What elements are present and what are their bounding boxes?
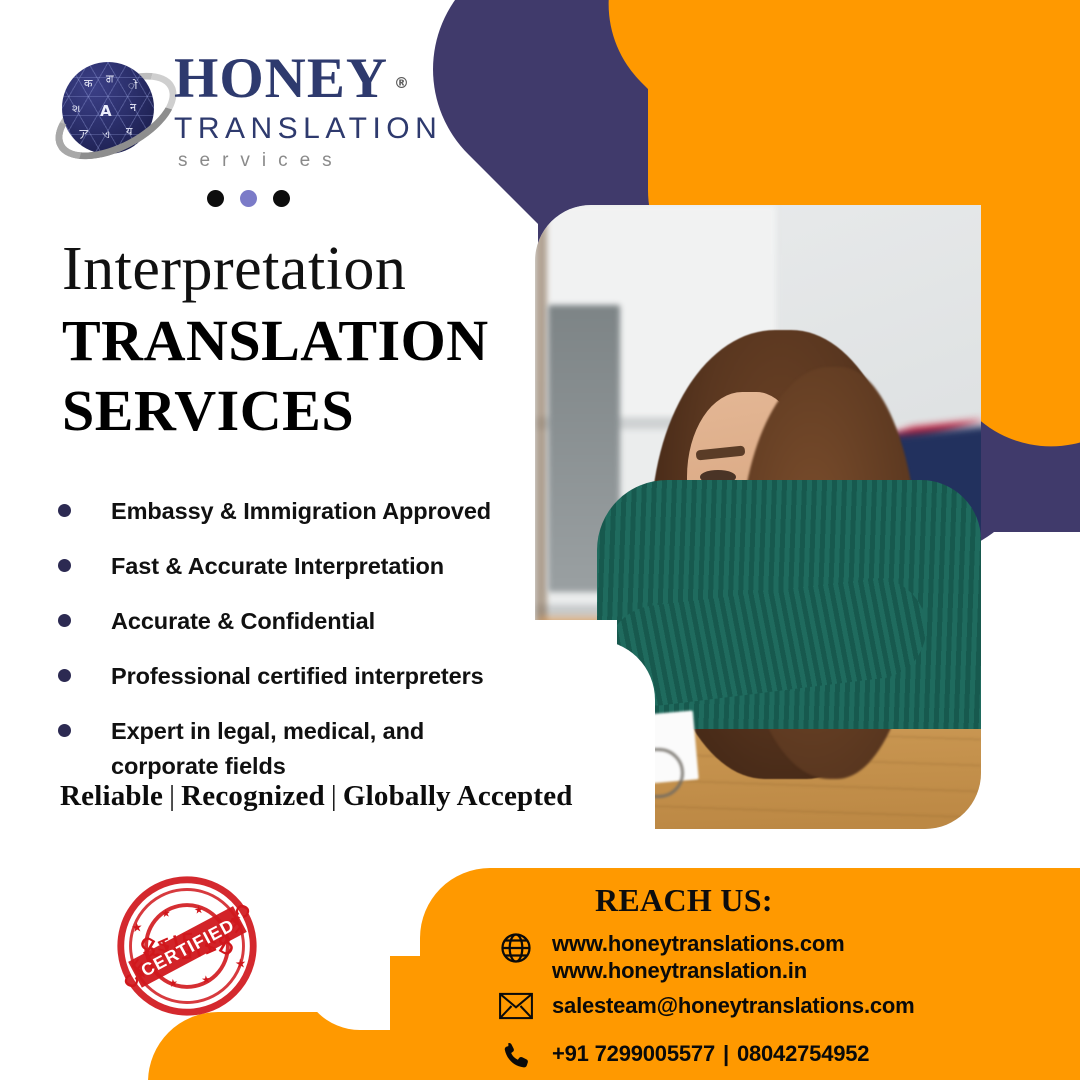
phone-1[interactable]: +91 7299005577	[552, 1041, 715, 1066]
contact-website-text[interactable]: www.honeytranslations.com www.honeytrans…	[552, 930, 844, 984]
svg-text:★: ★	[193, 904, 204, 917]
website-1[interactable]: www.honeytranslations.com	[552, 930, 844, 957]
envelope-icon	[494, 992, 538, 1020]
tagline-part-3: Globally Accepted	[343, 780, 573, 812]
contact-block: REACH US: www.honeytranslations.com www.…	[420, 868, 1080, 1080]
tagline-separator-2: |	[325, 780, 343, 812]
phone-separator: |	[715, 1041, 737, 1066]
feature-list: Embassy & Immigration Approved Fast & Ac…	[58, 494, 528, 804]
svg-text:★: ★	[131, 920, 144, 935]
photo-notch-fill	[535, 620, 617, 670]
dot-2	[240, 190, 257, 207]
brand-logo: क ਗ ो શ A न ア ଏ य HONEY ® TRANSLATION se…	[56, 48, 456, 178]
headline-bold-1: TRANSLATION	[62, 308, 522, 374]
list-item-label: Fast & Accurate Interpretation	[111, 549, 444, 584]
list-item-label: Expert in legal, medical, and corporate …	[111, 714, 451, 784]
list-item: Fast & Accurate Interpretation	[58, 549, 528, 584]
logo-services-text: services	[174, 148, 456, 174]
dot-separator	[207, 190, 290, 207]
bullet-icon	[58, 559, 71, 572]
logo-honey-text: HONEY ®	[174, 48, 388, 110]
tagline: Reliable|Recognized|Globally Accepted	[60, 780, 573, 813]
globe-glyph: क	[84, 76, 92, 91]
bullet-icon	[58, 669, 71, 682]
list-item-label: Professional certified interpreters	[111, 659, 484, 694]
list-item-label: Accurate & Confidential	[111, 604, 375, 639]
dot-3	[273, 190, 290, 207]
list-item: Professional certified interpreters	[58, 659, 528, 694]
phone-icon	[494, 1040, 538, 1074]
bullet-icon	[58, 724, 71, 737]
website-2[interactable]: www.honeytranslation.in	[552, 957, 844, 984]
list-item: Embassy & Immigration Approved	[58, 494, 528, 529]
tagline-separator-1: |	[163, 780, 181, 812]
list-item: Expert in legal, medical, and corporate …	[58, 714, 528, 784]
logo-translation-text: TRANSLATION	[174, 112, 456, 146]
certified-stamp: CERTIFIED CERTIFIED ★ ★ ★ ★ ★ ★ ★ ★	[104, 872, 270, 1020]
list-item-label: Embassy & Immigration Approved	[111, 494, 491, 529]
logo-honey-label: HONEY	[174, 47, 388, 110]
svg-text:★: ★	[168, 977, 179, 990]
contact-website-row[interactable]: www.honeytranslations.com www.honeytrans…	[494, 930, 844, 984]
contact-email-row[interactable]: salesteam@honeytranslations.com	[494, 992, 915, 1020]
logo-wordmark: HONEY ® TRANSLATION services	[174, 48, 456, 174]
registered-trademark-icon: ®	[394, 52, 410, 114]
bullet-icon	[58, 504, 71, 517]
contact-phone-text[interactable]: +91 7299005577|08042754952	[552, 1040, 869, 1067]
tagline-part-1: Reliable	[60, 780, 163, 812]
phone-2[interactable]: 08042754952	[737, 1041, 869, 1066]
svg-text:★: ★	[234, 956, 247, 971]
contact-phone-row[interactable]: +91 7299005577|08042754952	[494, 1040, 869, 1074]
poster-canvas: क ਗ ो શ A न ア ଏ य HONEY ® TRANSLATION se…	[0, 0, 1080, 1080]
headline-script: Interpretation	[62, 234, 522, 304]
list-item: Accurate & Confidential	[58, 604, 528, 639]
globe-icon: क ਗ ो શ A न ア ଏ य	[56, 56, 160, 160]
bullet-icon	[58, 614, 71, 627]
svg-text:★: ★	[161, 907, 172, 920]
tagline-part-2: Recognized	[181, 780, 325, 812]
headline-block: Interpretation TRANSLATION SERVICES	[62, 234, 522, 444]
svg-text:★: ★	[201, 974, 212, 987]
globe-icon	[494, 930, 538, 966]
headline-bold-2: SERVICES	[62, 378, 522, 444]
contact-heading: REACH US:	[595, 882, 773, 919]
dot-1	[207, 190, 224, 207]
contact-email-text[interactable]: salesteam@honeytranslations.com	[552, 992, 915, 1019]
